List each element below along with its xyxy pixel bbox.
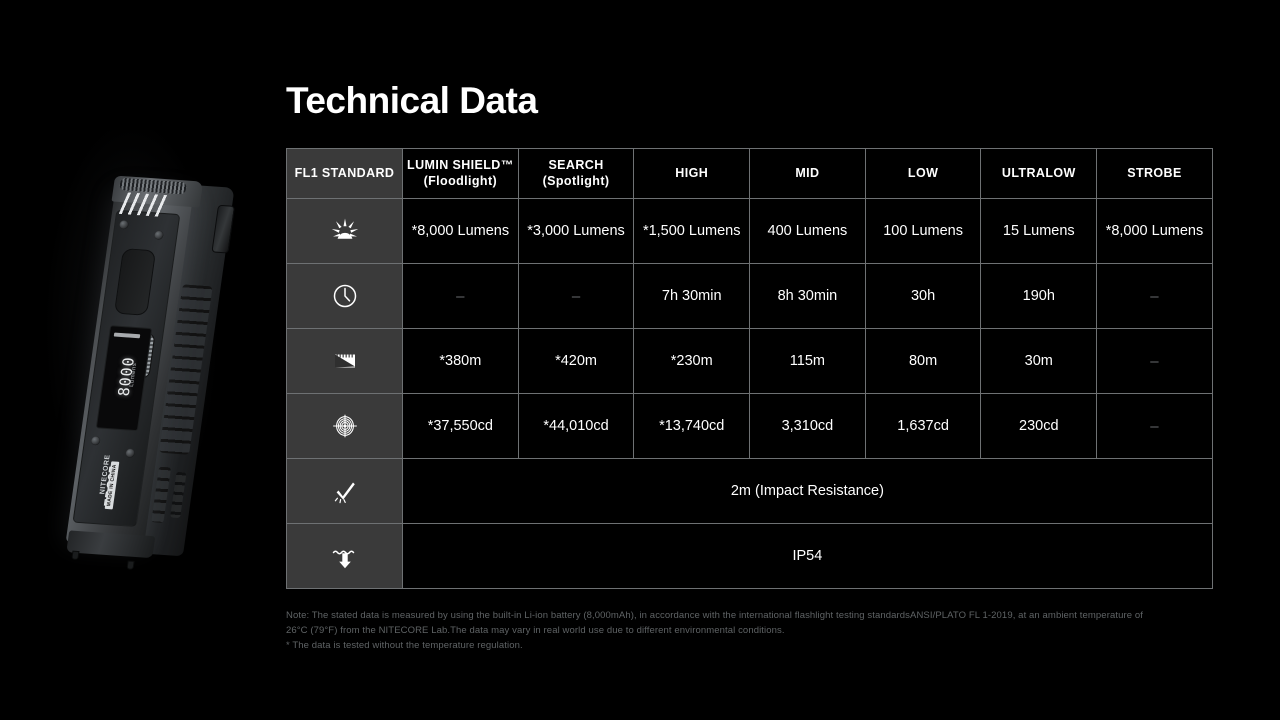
column-header-ultralow: ULTRALOW	[981, 149, 1097, 199]
table-row: – – 7h 30min 8h 30min 30h 190h –	[287, 264, 1213, 329]
cell-lumens-strobe: *8,000 Lumens	[1097, 199, 1213, 264]
table-row: *380m *420m *230m 115m 80m 30m –	[287, 329, 1213, 394]
cell-runtime-mid: 8h 30min	[750, 264, 866, 329]
column-header-sublabel: (Spotlight)	[522, 174, 631, 190]
cell-runtime-strobe: –	[1097, 264, 1213, 329]
water-resistance-icon	[328, 539, 362, 573]
cell-intensity-low: 1,637cd	[865, 394, 981, 459]
flashlight-photo: 8000 Lumens NITECORE EDC37 MADE IN CHINA	[62, 150, 252, 600]
column-header-label: STROBE	[1127, 166, 1182, 180]
cell-lumens-lumin-shield: *8,000 Lumens	[403, 199, 519, 264]
tail-foot	[71, 551, 79, 560]
led-vent-bars	[119, 192, 172, 216]
column-header-sublabel: (Floodlight)	[406, 174, 515, 190]
cell-runtime-low: 30h	[865, 264, 981, 329]
cell-intensity-strobe: –	[1097, 394, 1213, 459]
cell-lumens-mid: 400 Lumens	[750, 199, 866, 264]
cell-distance-low: 80m	[865, 329, 981, 394]
beam-distance-icon	[328, 344, 362, 378]
table-header: FL1 STANDARD LUMIN SHIELD™ (Floodlight) …	[287, 149, 1213, 199]
column-header-strobe: STROBE	[1097, 149, 1213, 199]
cell-lumens-search: *3,000 Lumens	[518, 199, 634, 264]
row-icon-cell-lumens	[287, 199, 403, 264]
column-header-low: LOW	[865, 149, 981, 199]
footnote-line-2: 26°C (79°F) from the NITECORE Lab.The da…	[286, 623, 1212, 638]
cell-intensity-lumin-shield: *37,550cd	[403, 394, 519, 459]
cell-impact-resistance-value: 2m (Impact Resistance)	[403, 459, 1213, 524]
row-icon-cell-intensity	[287, 394, 403, 459]
table-row: IP54	[287, 524, 1213, 589]
column-header-label: SEARCH	[548, 158, 603, 172]
column-header-label: HIGH	[675, 166, 708, 180]
cell-lumens-ultralow: 15 Lumens	[981, 199, 1097, 264]
row-icon-cell-runtime	[287, 264, 403, 329]
column-header-fl1-standard: FL1 STANDARD	[287, 149, 403, 199]
cell-lumens-low: 100 Lumens	[865, 199, 981, 264]
lumens-sunburst-icon	[328, 214, 362, 248]
page-title: Technical Data	[286, 80, 537, 122]
table-row: *37,550cd *44,010cd *13,740cd 3,310cd 1,…	[287, 394, 1213, 459]
column-header-label: LOW	[908, 166, 938, 180]
table-header-row: FL1 STANDARD LUMIN SHIELD™ (Floodlight) …	[287, 149, 1213, 199]
cell-intensity-high: *13,740cd	[634, 394, 750, 459]
column-header-search: SEARCH (Spotlight)	[518, 149, 634, 199]
cell-intensity-ultralow: 230cd	[981, 394, 1097, 459]
cell-distance-lumin-shield: *380m	[403, 329, 519, 394]
cell-distance-strobe: –	[1097, 329, 1213, 394]
cell-intensity-search: *44,010cd	[518, 394, 634, 459]
row-icon-cell-water	[287, 524, 403, 589]
page-root: 8000 Lumens NITECORE EDC37 MADE IN CHINA…	[0, 0, 1280, 720]
table-row: *8,000 Lumens *3,000 Lumens *1,500 Lumen…	[287, 199, 1213, 264]
column-header-label: LUMIN SHIELD™	[407, 158, 514, 172]
flashlight-tail	[66, 530, 155, 558]
product-image-area: 8000 Lumens NITECORE EDC37 MADE IN CHINA	[0, 0, 286, 720]
column-header-label: FL1 STANDARD	[295, 166, 395, 180]
column-header-mid: MID	[750, 149, 866, 199]
runtime-clock-icon	[328, 279, 362, 313]
cell-runtime-ultralow: 190h	[981, 264, 1097, 329]
cell-runtime-lumin-shield: –	[403, 264, 519, 329]
column-header-label: MID	[795, 166, 819, 180]
content-area: Technical Data FL1 STANDARD LUMIN SHIELD…	[286, 0, 1280, 720]
column-header-lumin-shield: LUMIN SHIELD™ (Floodlight)	[403, 149, 519, 199]
column-header-high: HIGH	[634, 149, 750, 199]
cell-distance-ultralow: 30m	[981, 329, 1097, 394]
cell-water-resistance-value: IP54	[403, 524, 1213, 589]
footnotes: Note: The stated data is measured by usi…	[286, 608, 1212, 653]
flashlight-body: 8000 Lumens NITECORE EDC37 MADE IN CHINA	[63, 176, 237, 571]
column-header-label: ULTRALOW	[1002, 166, 1076, 180]
footnote-line-3: * The data is tested without the tempera…	[286, 638, 1212, 653]
cell-distance-mid: 115m	[750, 329, 866, 394]
row-icon-cell-impact	[287, 459, 403, 524]
impact-resistance-icon	[328, 474, 362, 508]
cell-lumens-high: *1,500 Lumens	[634, 199, 750, 264]
cell-intensity-mid: 3,310cd	[750, 394, 866, 459]
cell-distance-high: *230m	[634, 329, 750, 394]
table-body: *8,000 Lumens *3,000 Lumens *1,500 Lumen…	[287, 199, 1213, 589]
table-row: 2m (Impact Resistance)	[287, 459, 1213, 524]
row-icon-cell-distance	[287, 329, 403, 394]
technical-data-table: FL1 STANDARD LUMIN SHIELD™ (Floodlight) …	[286, 148, 1213, 589]
cell-distance-search: *420m	[518, 329, 634, 394]
cell-runtime-search: –	[518, 264, 634, 329]
cell-runtime-high: 7h 30min	[634, 264, 750, 329]
tail-foot	[126, 560, 134, 569]
peak-intensity-icon	[328, 409, 362, 443]
footnote-line-1: Note: The stated data is measured by usi…	[286, 608, 1212, 623]
